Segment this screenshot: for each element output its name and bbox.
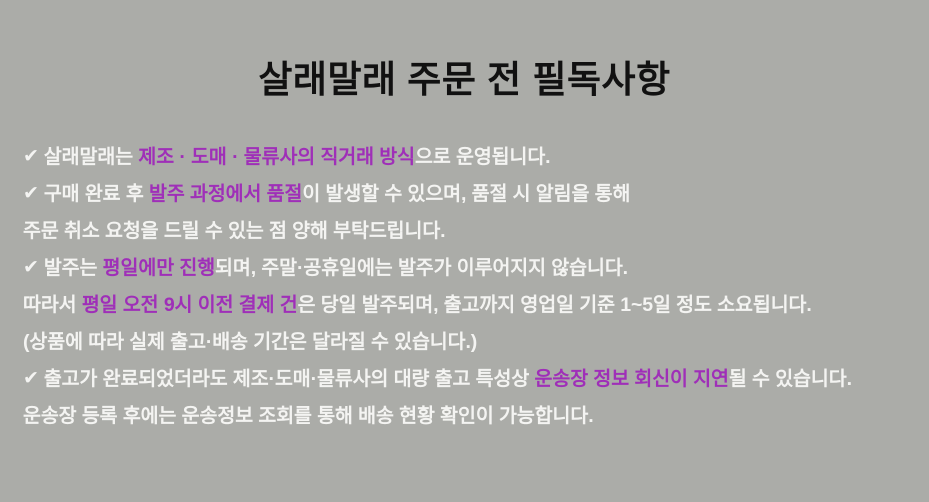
body-text: 살래말래는 [44, 146, 139, 168]
notice-line: (상품에 따라 실제 출고·배송 기간은 달라질 수 있습니다.) [23, 325, 918, 362]
check-icon: ✔ [23, 251, 39, 285]
notice-line: 따라서 평일 오전 9시 이전 결제 건은 당일 발주되며, 출고까지 영업일 … [23, 288, 918, 325]
notice-line: ✔발주는 평일에만 진행되며, 주말·공휴일에는 발주가 이루어지지 않습니다. [23, 251, 918, 288]
body-text: 구매 완료 후 [44, 183, 149, 205]
body-text: 발주는 [44, 257, 103, 279]
notice-line: 주문 취소 요청을 드릴 수 있는 점 양해 부탁드립니다. [23, 214, 918, 251]
notice-line: ✔출고가 완료되었더라도 제조·도매·물류사의 대량 출고 특성상 운송장 정보… [23, 362, 918, 399]
body-text: 출고가 완료되었더라도 제조·도매·물류사의 대량 출고 특성상 [44, 368, 535, 390]
body-text: 으로 운영됩니다. [415, 146, 551, 168]
body-text: 되며, 주말·공휴일에는 발주가 이루어지지 않습니다. [215, 257, 628, 279]
highlighted-text: 평일에만 진행 [103, 257, 215, 279]
page-title: 살래말래 주문 전 필독사항 [0, 57, 929, 103]
check-icon: ✔ [23, 177, 39, 211]
body-text: (상품에 따라 실제 출고·배송 기간은 달라질 수 있습니다.) [23, 331, 477, 353]
body-text: 될 수 있습니다. [729, 368, 852, 390]
check-icon: ✔ [23, 362, 39, 396]
body-text: 따라서 [23, 294, 82, 316]
notice-line: ✔살래말래는 제조 · 도매 · 물류사의 직거래 방식으로 운영됩니다. [23, 140, 918, 177]
body-text: 운송장 등록 후에는 운송정보 조회를 통해 배송 현황 확인이 가능합니다. [23, 405, 594, 427]
body-text: 은 당일 발주되며, 출고까지 영업일 기준 1~5일 정도 소요됩니다. [298, 294, 812, 316]
notice-body: ✔살래말래는 제조 · 도매 · 물류사의 직거래 방식으로 운영됩니다.✔구매… [23, 140, 918, 436]
highlighted-text: 운송장 정보 회신이 지연 [535, 368, 729, 390]
order-notice-card: 살래말래 주문 전 필독사항 ✔살래말래는 제조 · 도매 · 물류사의 직거래… [0, 0, 929, 502]
highlighted-text: 제조 · 도매 · 물류사의 직거래 방식 [138, 146, 415, 168]
body-text: 이 발생할 수 있으며, 품절 시 알림을 통해 [302, 183, 630, 205]
highlighted-text: 발주 과정에서 품절 [149, 183, 302, 205]
highlighted-text: 평일 오전 9시 이전 결제 건 [82, 294, 298, 316]
check-icon: ✔ [23, 140, 39, 174]
notice-line: ✔구매 완료 후 발주 과정에서 품절이 발생할 수 있으며, 품절 시 알림을… [23, 177, 918, 214]
body-text: 주문 취소 요청을 드릴 수 있는 점 양해 부탁드립니다. [23, 220, 446, 242]
notice-line: 운송장 등록 후에는 운송정보 조회를 통해 배송 현황 확인이 가능합니다. [23, 399, 918, 436]
